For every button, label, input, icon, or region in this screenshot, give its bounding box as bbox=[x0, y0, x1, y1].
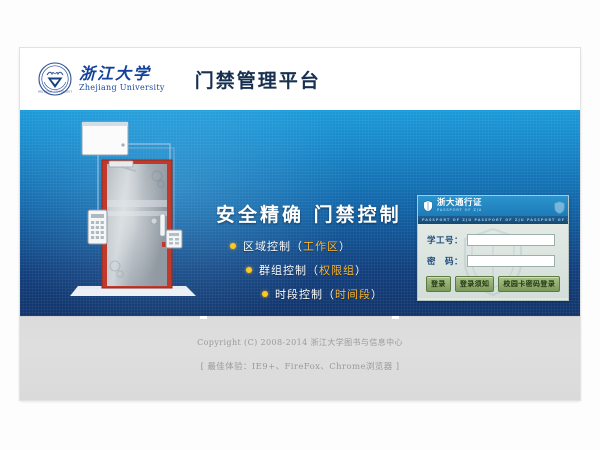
footer-notch bbox=[200, 316, 207, 319]
browser-support-text: [ 最佳体验：IE9+、FireFox、Chrome浏览器 ] bbox=[20, 360, 580, 372]
page-footer: Copyright (C) 2008-2014 浙江大学图书与信息中心 [ 最佳… bbox=[20, 316, 580, 400]
zju-emblem-icon: ZHEJIANG UNIVERSITY bbox=[38, 62, 72, 96]
logo-cn-name: 浙江大学 bbox=[79, 65, 165, 82]
feature-item-label: 区域控制（工作区） bbox=[243, 238, 351, 254]
feature-item-group-control: 群组控制（权限组） bbox=[216, 262, 426, 278]
feature-item-area-control: 区域控制（工作区） bbox=[216, 238, 426, 254]
logo-en-name: Zhejiang University bbox=[79, 83, 165, 93]
login-panel-title: 浙大通行证 bbox=[437, 199, 482, 208]
shield-icon bbox=[423, 197, 433, 216]
username-field[interactable] bbox=[467, 234, 555, 246]
hero-banner: 安全精确 门禁控制 区域控制（工作区） 群组控制（权限组） 时段控制（时间段） bbox=[20, 110, 580, 316]
login-panel: 浙大通行证 PASSPORT OF ZJU PASSPORT OF ZJU PA… bbox=[417, 195, 569, 301]
copyright-text: Copyright (C) 2008-2014 浙江大学图书与信息中心 bbox=[20, 337, 580, 348]
feature-item-time-control: 时段控制（时间段） bbox=[216, 286, 426, 302]
password-field[interactable] bbox=[467, 255, 555, 267]
login-panel-subtitle: PASSPORT OF ZJU bbox=[437, 209, 482, 213]
login-panel-stripe: PASSPORT OF ZJU PASSPORT OF ZJU PASSPORT… bbox=[418, 216, 568, 224]
login-button-group: 登录 登录须知 校园卡密码登录 bbox=[426, 276, 560, 292]
door-access-control-illustration bbox=[62, 114, 202, 312]
login-panel-header: 浙大通行证 PASSPORT OF ZJU bbox=[418, 196, 568, 216]
username-label: 学工号： bbox=[427, 234, 467, 246]
feature-item-label: 时段控制（时间段） bbox=[275, 286, 383, 302]
bullet-dot-icon bbox=[262, 291, 268, 297]
footer-notch bbox=[392, 316, 399, 319]
username-row: 学工号： bbox=[427, 234, 555, 246]
page-title: 门禁管理平台 bbox=[195, 66, 321, 93]
page-background: ZHEJIANG UNIVERSITY 浙江大学 Zhejiang Univer… bbox=[0, 0, 600, 450]
site-logo[interactable]: ZHEJIANG UNIVERSITY 浙江大学 Zhejiang Univer… bbox=[38, 62, 165, 96]
campus-card-login-button[interactable]: 校园卡密码登录 bbox=[498, 276, 560, 292]
password-row: 密 码： bbox=[427, 255, 555, 267]
login-notice-button[interactable]: 登录须知 bbox=[455, 276, 495, 292]
bullet-dot-icon bbox=[246, 267, 252, 273]
svg-text:ZHEJIANG UNIVERSITY: ZHEJIANG UNIVERSITY bbox=[38, 89, 72, 93]
banner-slogan: 安全精确 门禁控制 bbox=[216, 200, 402, 227]
bullet-dot-icon bbox=[230, 243, 236, 249]
feature-item-label: 群组控制（权限组） bbox=[259, 262, 367, 278]
login-form: 学工号： 密 码： 登录 登录须知 校园卡密码登录 bbox=[418, 224, 568, 298]
password-label: 密 码： bbox=[427, 255, 467, 267]
login-panel-stripe-text: PASSPORT OF ZJU PASSPORT OF ZJU PASSPORT… bbox=[418, 218, 568, 222]
feature-list: 区域控制（工作区） 群组控制（权限组） 时段控制（时间段） bbox=[216, 238, 426, 310]
page-header: ZHEJIANG UNIVERSITY 浙江大学 Zhejiang Univer… bbox=[20, 48, 580, 110]
login-button[interactable]: 登录 bbox=[426, 276, 451, 292]
app-card: ZHEJIANG UNIVERSITY 浙江大学 Zhejiang Univer… bbox=[20, 48, 580, 400]
